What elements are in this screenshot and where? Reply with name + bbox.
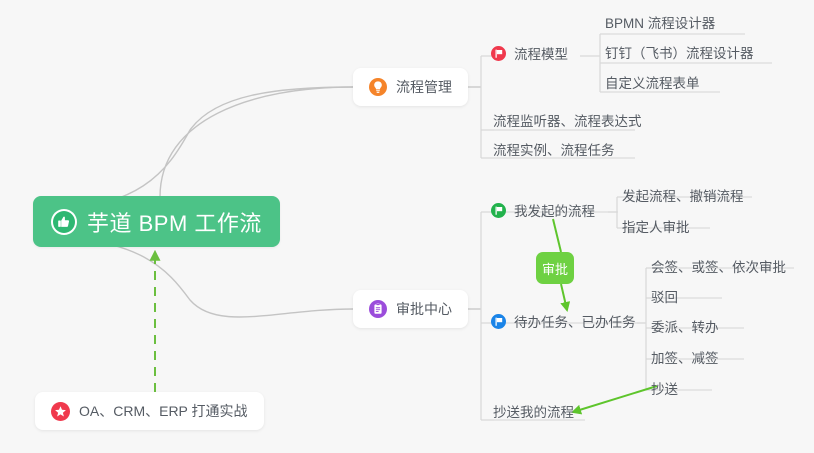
leaf-node-countersign[interactable]: 会签、或签、依次审批 [651, 256, 786, 279]
leaf-node-process-listener[interactable]: 流程监听器、流程表达式 [493, 110, 642, 133]
leaf-node-delegate-transfer[interactable]: 委派、转办 [651, 316, 719, 339]
leaf-label-process-model: 流程模型 [514, 43, 568, 63]
leaf-node-bpmn-designer[interactable]: BPMN 流程设计器 [605, 12, 715, 35]
lightbulb-icon [369, 78, 387, 96]
leaf-label-my-started-flow: 我发起的流程 [514, 200, 595, 220]
branch-node-process-management[interactable]: 流程管理 [353, 68, 468, 106]
arrow-approval-tag-to-todo [561, 284, 567, 310]
leaf-label-reject: 驳回 [651, 286, 678, 306]
leaf-node-my-started-flow[interactable]: 我发起的流程 [491, 200, 595, 223]
leaf-label-add-remove-sign: 加签、减签 [651, 347, 719, 367]
leaf-node-custom-form[interactable]: 自定义流程表单 [605, 72, 700, 95]
floating-tag-approval-label: 审批 [542, 259, 568, 278]
clipboard-icon [369, 300, 387, 318]
star-icon [51, 402, 70, 421]
root-node[interactable]: 芋道 BPM 工作流 [33, 196, 280, 247]
leaf-label-todo-done-tasks: 待办任务、已办任务 [514, 311, 636, 331]
leaf-label-process-listener: 流程监听器、流程表达式 [493, 110, 642, 130]
floating-label-integration: OA、CRM、ERP 打通实战 [79, 401, 248, 421]
floating-node-integration[interactable]: OA、CRM、ERP 打通实战 [35, 392, 264, 430]
root-label: 芋道 BPM 工作流 [87, 206, 262, 238]
leaf-label-assignee-approve: 指定人审批 [622, 216, 690, 236]
flag-icon [491, 203, 506, 218]
branch-label-approval-center: 审批中心 [396, 299, 452, 319]
leaf-label-cc: 抄送 [651, 378, 678, 398]
leaf-label-countersign: 会签、或签、依次审批 [651, 256, 786, 276]
leaf-node-add-remove-sign[interactable]: 加签、减签 [651, 347, 719, 370]
leaf-label-process-instance: 流程实例、流程任务 [493, 139, 615, 159]
leaf-node-cc-my-flow[interactable]: 抄送我的流程 [493, 401, 574, 424]
leaf-label-bpmn-designer: BPMN 流程设计器 [605, 12, 715, 32]
leaf-node-reject[interactable]: 驳回 [651, 286, 678, 309]
leaf-node-todo-done-tasks[interactable]: 待办任务、已办任务 [491, 311, 636, 334]
leaf-label-dingtalk-designer: 钉钉（飞书）流程设计器 [605, 42, 754, 62]
edge-root-left-arc-bottom [33, 236, 353, 317]
leaf-label-custom-form: 自定义流程表单 [605, 72, 700, 92]
leaf-node-start-cancel-flow[interactable]: 发起流程、撤销流程 [622, 185, 744, 208]
leaf-node-process-instance[interactable]: 流程实例、流程任务 [493, 139, 615, 162]
flag-icon [491, 314, 506, 329]
branch-node-approval-center[interactable]: 审批中心 [353, 290, 468, 328]
thumbs-up-icon [51, 209, 77, 235]
flag-icon [491, 46, 506, 61]
leaf-label-start-cancel-flow: 发起流程、撤销流程 [622, 185, 744, 205]
arrow-cc-to-cc-my-flow [573, 386, 657, 412]
leaf-node-cc[interactable]: 抄送 [651, 378, 678, 401]
edge-root-left-arc-top [33, 87, 353, 210]
edge-root-to-process-mgmt [160, 87, 353, 197]
arrow-my-started-to-approval-tag [553, 219, 561, 252]
branch-label-process-management: 流程管理 [396, 77, 452, 97]
leaf-node-assignee-approve[interactable]: 指定人审批 [622, 216, 690, 239]
floating-tag-approval[interactable]: 审批 [536, 252, 574, 284]
leaf-node-process-model[interactable]: 流程模型 [491, 43, 568, 66]
leaf-label-delegate-transfer: 委派、转办 [651, 316, 719, 336]
leaf-label-cc-my-flow: 抄送我的流程 [493, 401, 574, 421]
leaf-node-dingtalk-designer[interactable]: 钉钉（飞书）流程设计器 [605, 42, 754, 65]
mindmap-canvas: 芋道 BPM 工作流 流程管理 审批中心 [0, 0, 814, 453]
